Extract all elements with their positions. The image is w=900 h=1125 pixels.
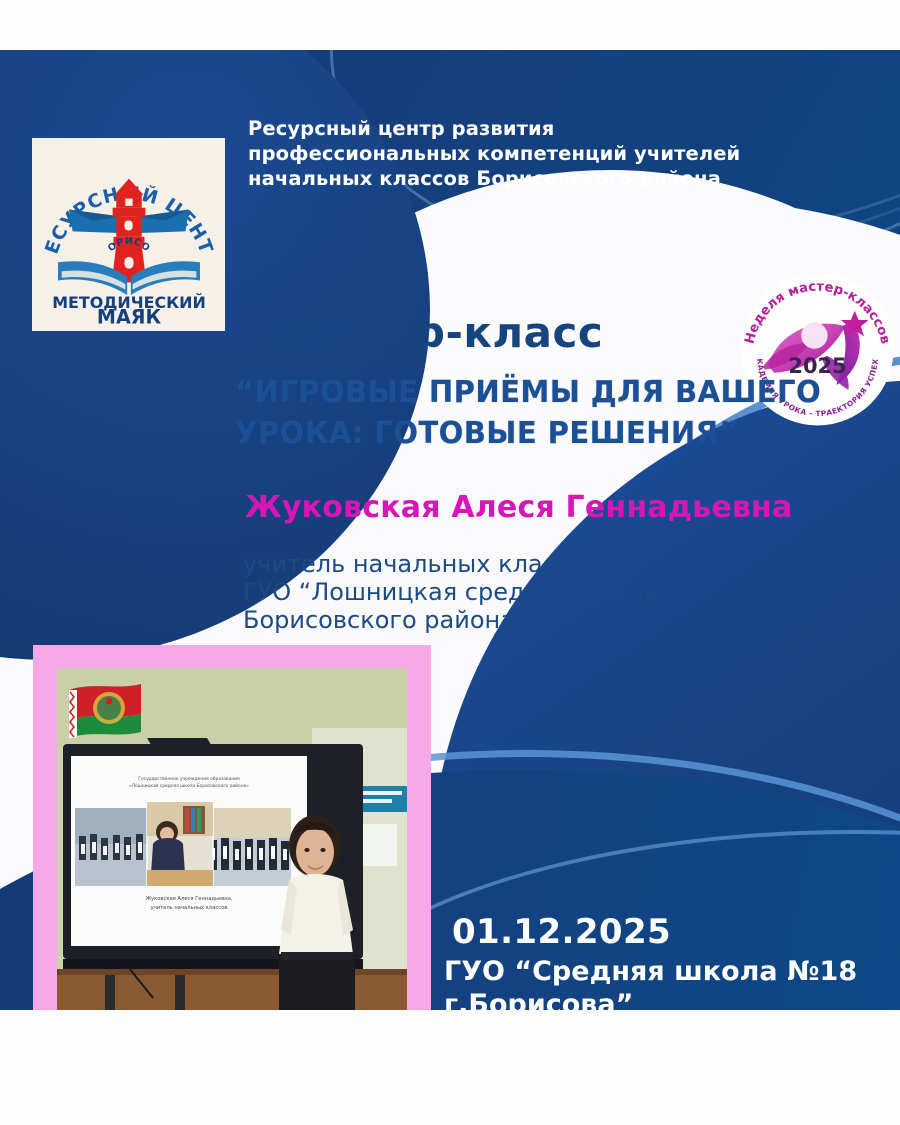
org-title-line-2: профессиональных компетенций учителей [248, 141, 858, 166]
org-title-line-3: начальных классов Борисовского района [248, 166, 858, 191]
speaker-role: учитель начальных классов ГУО “Лошницкая… [243, 550, 763, 634]
slide-caption-line1: Жуковская Алеся Геннадьевна, [145, 896, 232, 902]
organization-title: Ресурсный центр развития профессиональны… [248, 116, 858, 191]
event-type-title: мастер-класс [272, 308, 603, 357]
photo-frame: Государственное учреждение образования «… [33, 645, 431, 1010]
venue-line-2: г.Борисова” [444, 988, 874, 1010]
slide-header-line1: Государственное учреждение образования [138, 775, 240, 782]
lighthouse-logo-icon: РЕСУРСНЫЙ ЦЕНТР [38, 144, 220, 326]
org-title-line-1: Ресурсный центр развития [248, 116, 858, 141]
slide-caption-line2: учитель начальных классов [151, 905, 228, 911]
slide-header-line2: «Лошницкая средняя школа Борисовского ра… [129, 782, 249, 789]
event-venue: ГУО “Средняя школа №18 г.Борисова” [444, 955, 874, 1010]
event-title-line-1: “ИГРОВЫЕ ПРИЁМЫ ДЛЯ ВАШЕГО [235, 372, 778, 413]
speaker-role-line-2: ГУО “Лошницкая средняя школа [243, 578, 763, 606]
event-photo-illustration: Государственное учреждение образования «… [57, 668, 407, 1010]
belarus-flag [69, 684, 141, 738]
poster-canvas: РЕСУРСНЫЙ ЦЕНТР [0, 0, 900, 1125]
resource-center-logo: РЕСУРСНЫЙ ЦЕНТР [32, 138, 225, 331]
venue-line-1: ГУО “Средняя школа №18 [444, 955, 874, 988]
speaker-role-line-1: учитель начальных классов [243, 550, 763, 578]
logo-name-line2: МАЯК [96, 305, 161, 326]
event-date: 01.12.2025 [452, 912, 671, 952]
speaker-role-line-3: Борисовского района” [243, 606, 763, 634]
poster-panel: РЕСУРСНЫЙ ЦЕНТР [0, 50, 900, 1010]
event-title: “ИГРОВЫЕ ПРИЁМЫ ДЛЯ ВАШЕГО УРОКА: ГОТОВЫ… [235, 372, 778, 454]
event-photo: Государственное учреждение образования «… [57, 668, 407, 1010]
speaker-name: Жуковская Алеся Геннадьевна [245, 490, 845, 525]
event-title-line-2: УРОКА: ГОТОВЫЕ РЕШЕНИЯ” [235, 413, 778, 454]
